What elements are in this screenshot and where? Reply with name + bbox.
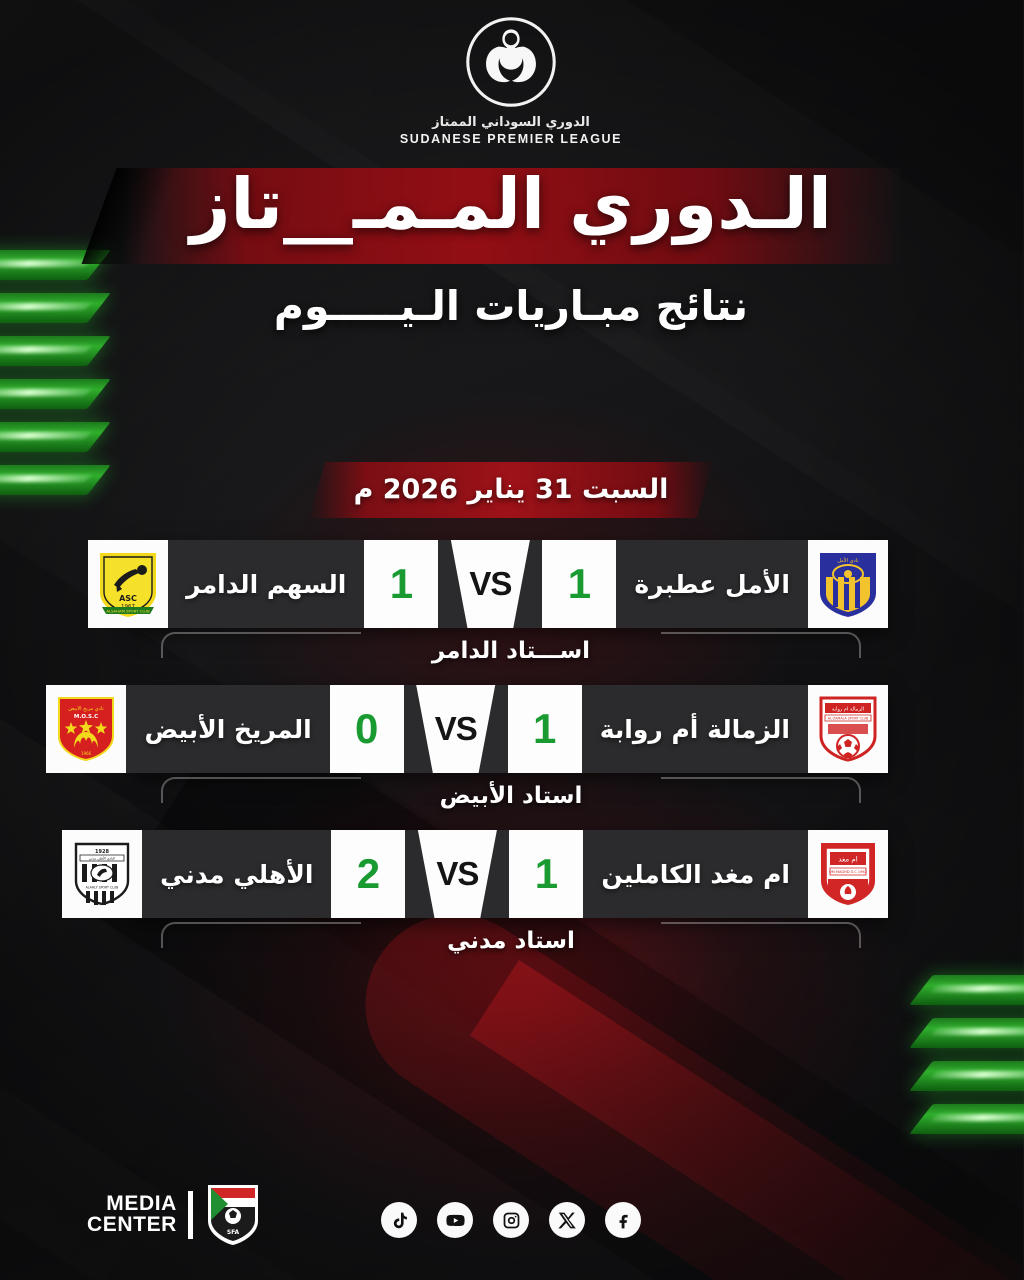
date-text: السبت 31 يناير 2026 م [310,462,714,518]
home-team-logo: الزمالة ام روابة AL-ZAMALA SPORT CLUB [809,685,889,773]
match-row[interactable]: الزمالة ام روابة AL-ZAMALA SPORT CLUB ال… [0,685,1024,830]
away-score: 1 [391,563,414,605]
al-ahli-madani-crest-icon: 1928 النادي الأهلي مدني ALAHLY SPORT CLU… [71,839,135,909]
vs-separator: VS [405,685,509,773]
tiktok-icon[interactable] [382,1202,418,1238]
league-logo-block: الدوري السوداني الممتاز SUDANESE PREMIER… [0,14,1024,146]
svg-text:ASC: ASC [120,594,138,603]
home-team-logo: ام مغد UM MAGHD S.C 1962 [809,830,889,918]
svg-text:1966: 1966 [82,751,93,756]
stadium-row: استاد مدني [0,922,1024,974]
home-team-name: الأمل عطبرة [635,570,791,599]
match-row[interactable]: نادي الأمل الأمل عطبرة 1 VS 1 السهم الدا… [0,540,1024,685]
svg-text:نادي مريخ الابيض: نادي مريخ الابيض [70,706,106,712]
al-zamala-um-rawaba-crest-icon: الزمالة ام روابة AL-ZAMALA SPORT CLUB [817,694,881,764]
vs-separator: VS [406,830,510,918]
vs-separator: VS [439,540,543,628]
chevron-icon [910,975,1024,1005]
chevron-icon [910,1018,1024,1048]
svg-text:ALSAHAM SPORT CLUB: ALSAHAM SPORT CLUB [108,609,152,614]
sudanese-premier-league-emblem-icon [464,14,560,110]
away-score: 2 [358,853,381,895]
svg-text:النادي الأهلي مدني: النادي الأهلي مدني [90,856,116,861]
home-score-cell: 1 [543,540,617,628]
stadium-row: استاد الأبيض [0,777,1024,829]
facebook-icon[interactable] [606,1202,642,1238]
x-twitter-icon[interactable] [550,1202,586,1238]
page-title: الـدوري المـمـ__تاز [0,163,1024,245]
away-team-name: السهم الدامر [187,570,347,599]
date-banner: السبت 31 يناير 2026 م [310,462,714,518]
svg-text:ام مغد: ام مغد [839,856,858,864]
home-score-cell: 1 [510,830,584,918]
stadium-name: استاد مدني [0,928,1024,954]
chevron-icon [910,1061,1024,1091]
svg-text:ALAHLY SPORT CLUB: ALAHLY SPORT CLUB [87,886,120,890]
away-team-logo: نادي مريخ الابيض M.O.S.C 1966 [47,685,127,773]
away-team-name-cell: السهم الدامر [169,540,365,628]
away-team-name: الأهلي مدني [161,860,314,889]
chevron-icon [0,422,112,452]
chevron-icon [910,1104,1024,1134]
away-score-cell: 0 [331,685,405,773]
away-score: 0 [356,708,379,750]
home-team-name-cell: ام مغد الكاملين [584,830,809,918]
svg-text:نادي الأمل: نادي الأمل [838,557,859,564]
home-score: 1 [534,708,557,750]
away-team-name: المريخ الأبيض [145,715,312,744]
league-name-arabic: الدوري السوداني الممتاز [0,115,1024,130]
svg-text:M.O.S.C: M.O.S.C [75,714,99,720]
match-scoreline: الزمالة ام روابة AL-ZAMALA SPORT CLUB ال… [135,685,889,773]
home-team-logo: نادي الأمل [809,540,889,628]
chevron-icon [0,336,112,366]
match-scoreline: ام مغد UM MAGHD S.C 1962 ام مغد الكاملين… [135,830,889,918]
al-saham-aldamer-crest-icon: ASC 1967 ALSAHAM SPORT CLUB [97,549,161,619]
svg-text:AL-ZAMALA SPORT CLUB: AL-ZAMALA SPORT CLUB [829,717,870,721]
home-score: 1 [569,563,592,605]
away-team-name-cell: الأهلي مدني [143,830,332,918]
away-team-name-cell: المريخ الأبيض [127,685,330,773]
social-links [0,1202,1024,1238]
away-score-cell: 2 [332,830,406,918]
match-results-list: نادي الأمل الأمل عطبرة 1 VS 1 السهم الدا… [0,540,1024,975]
um-maghd-alkamlin-crest-icon: ام مغد UM MAGHD S.C 1962 [817,839,881,909]
youtube-icon[interactable] [438,1202,474,1238]
svg-text:1928: 1928 [96,849,110,855]
svg-text:الزمالة ام روابة: الزمالة ام روابة [833,707,865,713]
away-score-cell: 1 [365,540,439,628]
stadium-name: استاد الأبيض [0,783,1024,809]
away-team-logo: 1928 النادي الأهلي مدني ALAHLY SPORT CLU… [63,830,143,918]
vs-label: VS [436,710,478,748]
match-row[interactable]: ام مغد UM MAGHD S.C 1962 ام مغد الكاملين… [0,830,1024,975]
home-team-name: ام مغد الكاملين [602,860,791,889]
home-team-name-cell: الأمل عطبرة [617,540,809,628]
home-score-cell: 1 [509,685,583,773]
home-score: 1 [536,853,559,895]
chevron-icon [0,465,112,495]
green-chevrons-right [922,975,1024,1134]
league-name-english: SUDANESE PREMIER LEAGUE [0,132,1024,146]
al-amal-atbara-crest-icon: نادي الأمل [817,549,881,619]
al-merrikh-al-abyad-crest-icon: نادي مريخ الابيض M.O.S.C 1966 [55,694,119,764]
svg-text:UM MAGHD S.C 1962: UM MAGHD S.C 1962 [830,870,868,874]
vs-label: VS [470,565,512,603]
stadium-row: اســـتاد الدامر [0,632,1024,684]
stadium-name: اســـتاد الدامر [0,638,1024,664]
vs-label: VS [437,855,479,893]
chevron-icon [0,379,112,409]
home-team-name-cell: الزمالة أم روابة [583,685,809,773]
away-team-logo: ASC 1967 ALSAHAM SPORT CLUB [89,540,169,628]
match-scoreline: نادي الأمل الأمل عطبرة 1 VS 1 السهم الدا… [135,540,889,628]
home-team-name: الزمالة أم روابة [601,715,791,744]
page-subtitle: نتائج مبـاريات الـيـــــوم [0,282,1024,330]
instagram-icon[interactable] [494,1202,530,1238]
